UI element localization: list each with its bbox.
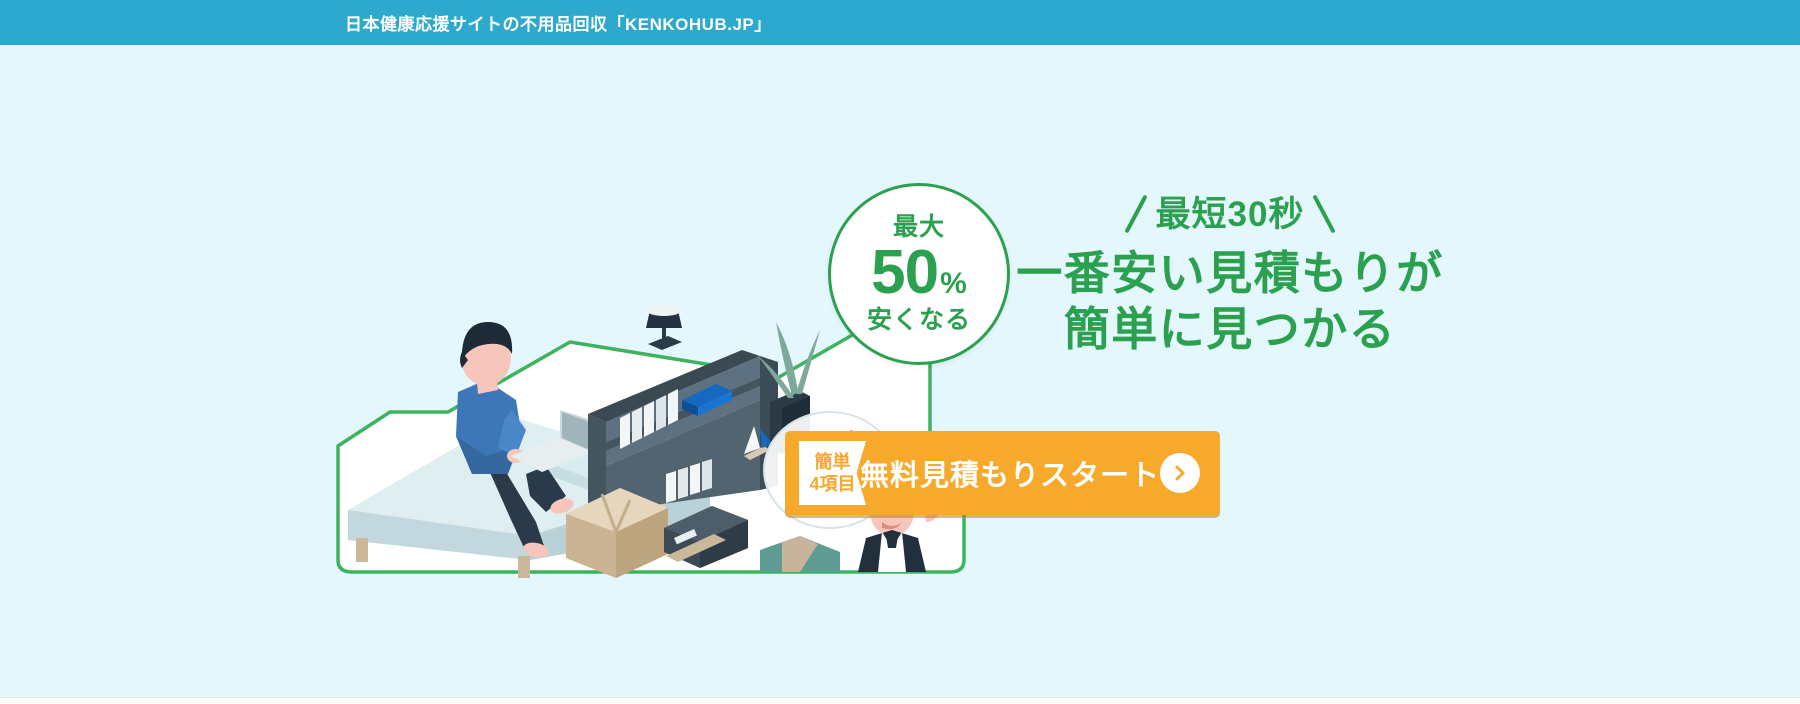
- headline-line-2: 簡単に見つかる: [1010, 301, 1450, 357]
- cta-tag-line-1: 簡単: [814, 451, 850, 474]
- site-title: 日本健康応援サイトの不用品回収「KENKOHUB.JP」: [345, 10, 772, 35]
- badge-value: 50 %: [871, 242, 967, 304]
- slash-left-icon: [1124, 195, 1147, 234]
- hero-headline: 最短30秒 一番安い見積もりが 簡単に見つかる: [1010, 193, 1450, 357]
- headline-line-1: 一番安い見積もりが: [1010, 245, 1450, 301]
- badge-top-label: 最大: [893, 215, 945, 240]
- badge-bottom-label: 安くなる: [867, 308, 971, 333]
- badge-unit: %: [940, 269, 967, 299]
- chevron-right-icon: [1160, 453, 1200, 493]
- slash-right-icon: [1313, 195, 1336, 234]
- discount-badge: 最大 50 % 安くなる: [828, 183, 1010, 365]
- hero-section: 最大 50 % 安くなる 最短30秒 一番安い見積もりが 簡単に見つかる 簡単 …: [0, 45, 1800, 697]
- cta-ribbon-tag: 簡単 4項目: [799, 441, 866, 505]
- cta-label: 無料見積もりスタート: [860, 452, 1160, 494]
- page-root: 日本健康応援サイトの不用品回収「KENKOHUB.JP」: [0, 0, 1800, 704]
- cta-tag-line-2: 4項目: [809, 473, 855, 496]
- free-quote-start-button[interactable]: 簡単 4項目 無料見積もりスタート: [785, 431, 1220, 515]
- headline-kicker: 最短30秒: [1010, 193, 1450, 235]
- kicker-text: 最短30秒: [1156, 197, 1305, 232]
- badge-number: 50: [871, 242, 938, 304]
- page-bottom-strip: [0, 697, 1800, 704]
- site-header: 日本健康応援サイトの不用品回収「KENKOHUB.JP」: [0, 0, 1800, 45]
